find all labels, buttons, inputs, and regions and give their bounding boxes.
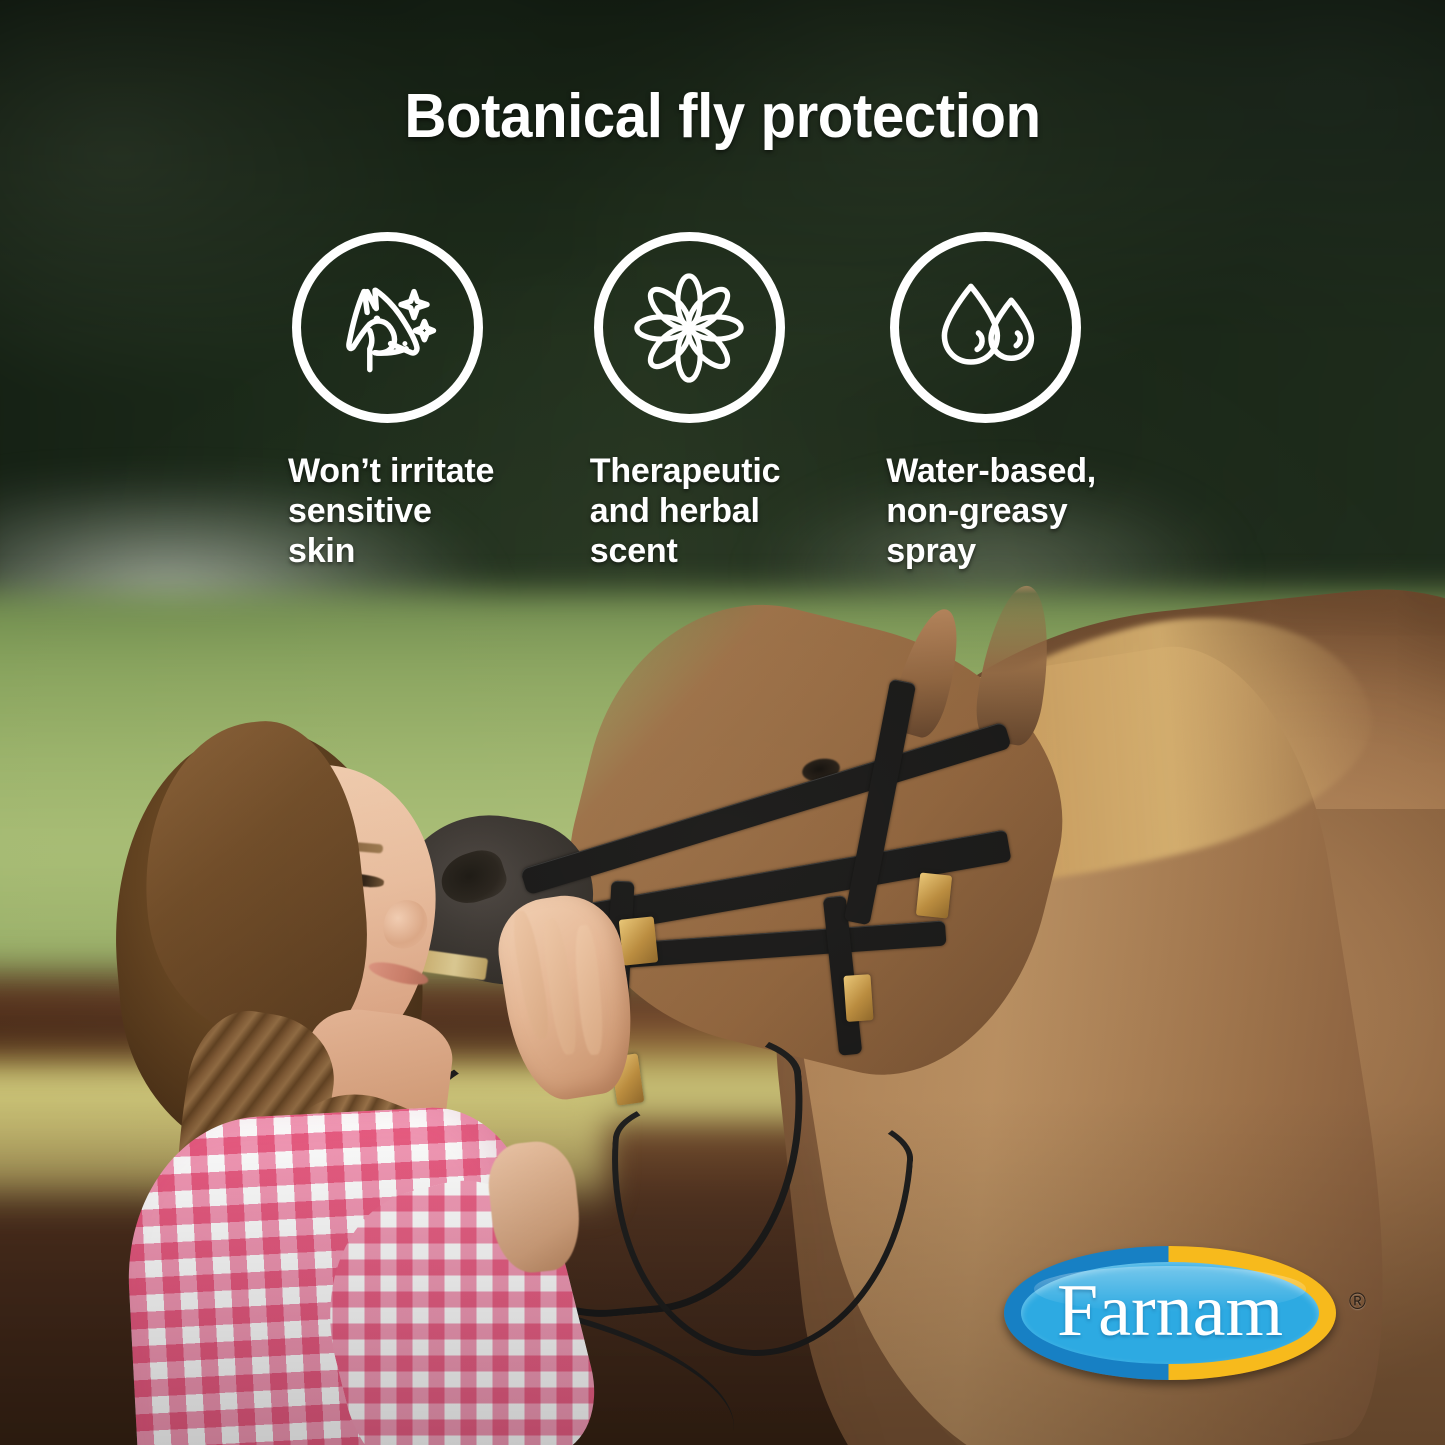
feature-label-water-based: Water-based, non-greasy spray <box>886 451 1182 571</box>
overlay-content: Botanical fly protection <box>0 0 1445 1445</box>
farnam-logo: Farnam ® <box>1004 1246 1336 1380</box>
feature-item-water-based: Water-based, non-greasy spray <box>880 232 1182 571</box>
feature-item-sensitive-skin: Won’t irritate sensitive skin <box>282 232 584 571</box>
water-droplets-icon <box>890 232 1081 423</box>
registered-trademark-symbol: ® <box>1349 1288 1366 1315</box>
flower-icon <box>594 232 785 423</box>
feature-label-herbal-scent: Therapeutic and herbal scent <box>590 451 880 571</box>
feature-label-sensitive-skin: Won’t irritate sensitive skin <box>288 451 584 571</box>
feature-item-herbal-scent: Therapeutic and herbal scent <box>584 232 880 571</box>
page-title: Botanical fly protection <box>43 86 1401 148</box>
feature-list: Won’t irritate sensitive skin <box>282 232 1182 571</box>
horse-head-sparkle-icon <box>292 232 483 423</box>
advertisement-image: Botanical fly protection <box>0 0 1445 1445</box>
logo-wordmark: Farnam <box>1004 1246 1336 1380</box>
